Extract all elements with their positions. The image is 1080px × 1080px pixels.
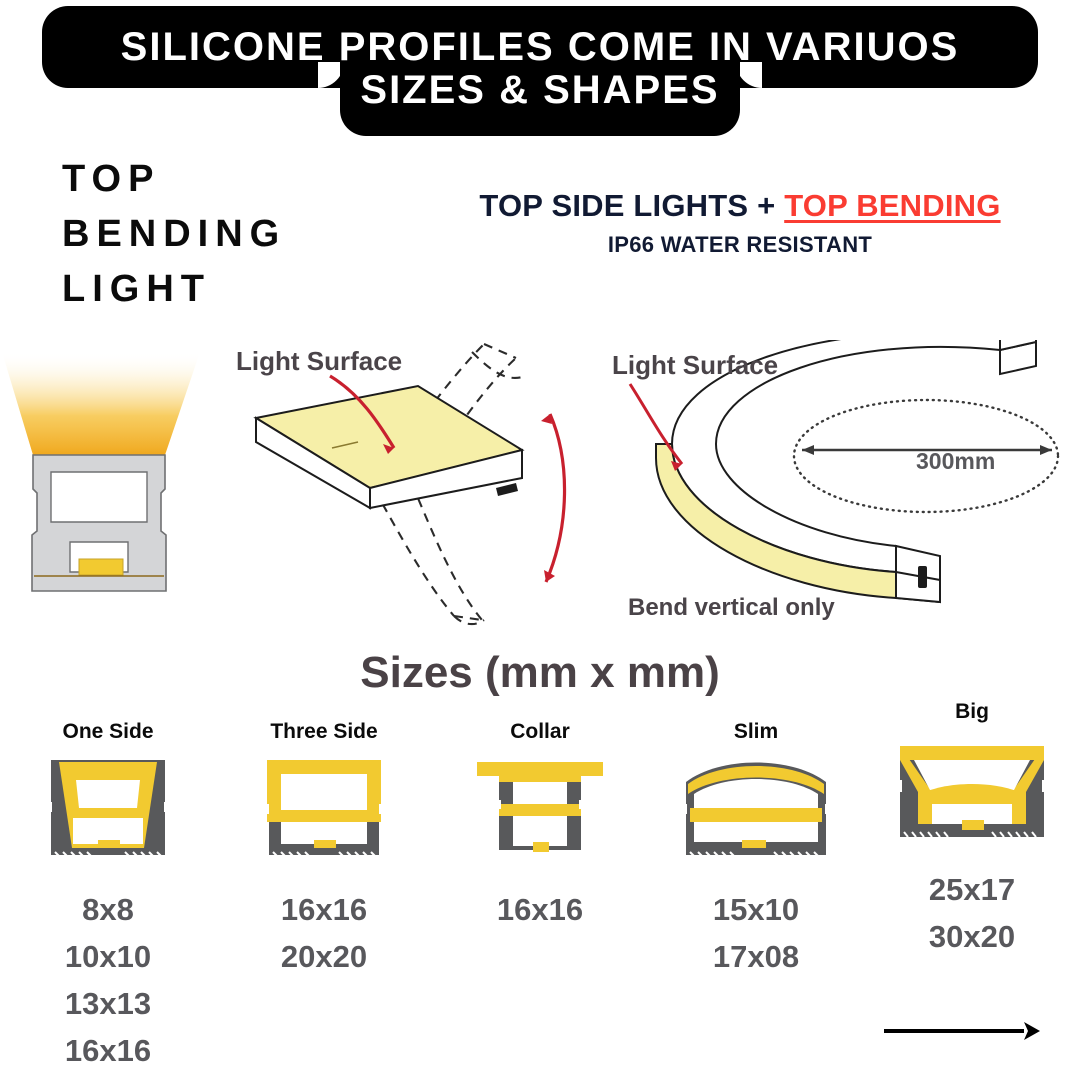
header-title-line1: SILICONE PROFILES COME IN VARIUOS [121,27,960,67]
size-column-label: Three Side [216,720,432,746]
cross-section-with-beam [0,352,220,612]
sizes-section-title: Sizes (mm x mm) [0,648,1080,698]
size-column-label: Big [864,700,1080,726]
profile-icon-collar [432,746,648,864]
bar-end-connector [496,483,518,496]
size-value: 20x20 [216,933,432,980]
profile-icon-big [864,726,1080,844]
size-value: 17x08 [648,933,864,980]
product-title: TOP BENDING LIGHT [62,152,342,317]
profile-cavity-upper [51,472,147,522]
size-list-one-side: 8x8 10x10 13x13 16x16 [0,886,216,1074]
size-value: 16x16 [432,886,648,933]
size-column-three-side: Three Side 16x16 [216,720,432,980]
size-list-collar: 16x16 [432,886,648,933]
size-column-collar: Collar 16x16 [432,720,648,933]
size-value: 10x10 [0,933,216,980]
light-beam-cone [2,352,200,455]
profile-icon-three-side [216,746,432,864]
feature-heading-prefix: TOP SIDE LIGHTS + [479,188,784,223]
next-arrow-icon[interactable] [884,1016,1064,1046]
size-list-three-side: 16x16 20x20 [216,886,432,980]
size-value: 25x17 [864,866,1080,913]
size-value: 13x13 [0,980,216,1027]
bend-note-label: Bend vertical only [628,594,835,622]
ip-rating-label: IP66 WATER RESISTANT [420,232,1060,258]
size-value: 30x20 [864,913,1080,960]
light-surface-label-2: Light Surface [612,350,778,381]
size-column-label: Slim [648,720,864,746]
size-column-big: Big [864,700,1080,960]
size-value: 8x8 [0,886,216,933]
profile-icon-slim [648,746,864,864]
bend-diameter-label: 300mm [916,448,995,475]
infographic-canvas: SILICONE PROFILES COME IN VARIUOS SIZES … [0,0,1080,1080]
size-value: 16x16 [216,886,432,933]
feature-heading-highlight: TOP BENDING [784,188,1000,223]
size-column-slim: Slim 15x1 [648,720,864,980]
size-value: 16x16 [0,1027,216,1074]
size-list-slim: 15x10 17x08 [648,886,864,980]
header-banner-bottom: SIZES & SHAPES [340,62,740,136]
loop-end-connector [918,566,927,588]
size-column-label: One Side [0,720,216,746]
light-surface-label-1: Light Surface [236,346,402,377]
feature-heading: TOP SIDE LIGHTS + TOP BENDING [420,188,1060,224]
size-column-one-side: One Side [0,720,216,1074]
size-value: 15x10 [648,886,864,933]
size-list-big: 25x17 30x20 [864,866,1080,960]
profile-icon-one-side [0,746,216,864]
bend-direction-arrow [541,414,565,582]
header-title-line2: SIZES & SHAPES [360,70,719,110]
size-column-label: Collar [432,720,648,746]
led-chip [79,559,123,575]
